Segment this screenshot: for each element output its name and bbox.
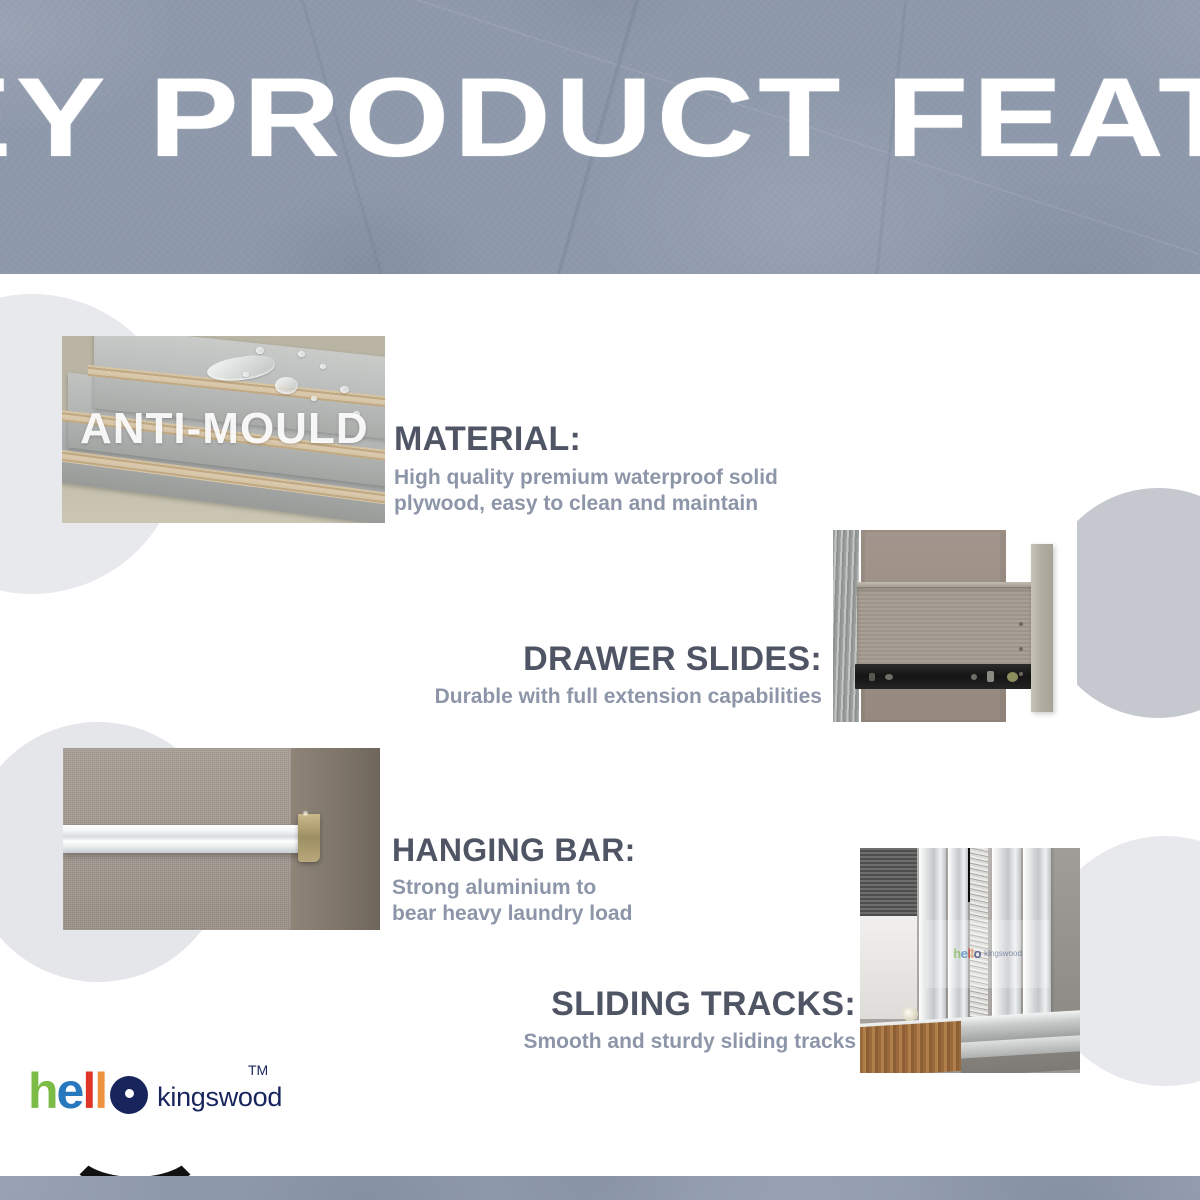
wardrobe-opening <box>1051 848 1080 1028</box>
feature-hanging-bar-body: Strong aluminium to bear heavy laundry l… <box>392 875 636 926</box>
drawer-slides-photo <box>823 512 1077 732</box>
header-band: KEY PRODUCT FEATURES <box>0 0 1200 274</box>
door-roller-wheel <box>902 1007 918 1021</box>
feature-drawer-slides-text: DRAWER SLIDES: Durable with full extensi… <box>180 640 822 710</box>
page-title: KEY PRODUCT FEATURES <box>0 62 1200 174</box>
feature-material-text: MATERIAL: High quality premium waterproo… <box>394 420 778 516</box>
rail-fitting <box>987 671 994 682</box>
wooden-kick-panel <box>860 1020 961 1073</box>
aluminium-hanging-bar <box>63 825 304 853</box>
drawer-pin-hole <box>1019 672 1023 676</box>
feature-sliding-tracks-text: SLIDING TRACKS: Smooth and sturdy slidin… <box>180 985 856 1055</box>
wardrobe-side-stile <box>833 530 859 722</box>
hanging-bar-bracket <box>298 814 320 862</box>
drawer-slide-rail <box>855 664 1039 689</box>
water-droplet-small <box>311 396 317 401</box>
water-droplet-small <box>243 372 249 377</box>
footer-band <box>0 1176 1200 1200</box>
drawer-front-panel <box>1031 544 1053 712</box>
rail-screw <box>1007 672 1018 682</box>
anti-mould-overlay-label: ANTI-MOULD <box>80 404 369 454</box>
logo-letter-l-first: l <box>82 1066 94 1116</box>
feature-hanging-bar-heading: HANGING BAR: <box>392 832 636 869</box>
footer-texture <box>0 1176 1200 1200</box>
feature-sliding-tracks-body: Smooth and sturdy sliding tracks <box>180 1029 856 1055</box>
rail-fitting <box>971 674 977 680</box>
rail-fitting <box>869 673 875 681</box>
sliding-tracks-photo: hello kingswood <box>860 848 1080 1073</box>
logo-letter-e: e <box>57 1066 83 1116</box>
wall-grille <box>860 848 917 916</box>
feature-material-heading: MATERIAL: <box>394 420 778 459</box>
feature-material-body: High quality premium waterproof solid pl… <box>394 465 778 516</box>
feature-material-body-line-2: plywood, easy to clean and maintain <box>394 491 778 517</box>
watermark-hello-text: hello <box>953 946 981 961</box>
rail-fitting <box>885 674 893 680</box>
feature-hanging-bar-text: HANGING BAR: Strong aluminium to bear he… <box>392 832 636 926</box>
watermark-brand-text: kingswood <box>984 949 1022 958</box>
bracket-highlight <box>302 810 309 817</box>
logo-brand-name: kingswood <box>157 1082 282 1113</box>
feature-hanging-bar-body-line-2: bear heavy laundry load <box>392 901 636 927</box>
feature-drawer-slides-body: Durable with full extension capabilities <box>180 684 822 710</box>
feature-sliding-tracks-heading: SLIDING TRACKS: <box>180 985 856 1024</box>
water-droplet-small <box>256 347 264 354</box>
feature-drawer-slides-heading: DRAWER SLIDES: <box>180 640 822 679</box>
feature-hanging-bar-body-line-1: Strong aluminium to <box>392 875 636 901</box>
hanging-bar-photo <box>63 748 380 930</box>
logo-letter-l-second: l <box>94 1066 106 1116</box>
infographic-page: KEY PRODUCT FEATURES ANTI-MOULD MATERIAL… <box>0 0 1200 1200</box>
drawer-slides-photo-inner <box>823 512 1077 732</box>
logo-trademark-symbol: TM <box>248 1062 268 1078</box>
drawer-pin-hole <box>1019 647 1023 651</box>
drawer-pin-hole <box>1019 622 1023 626</box>
feature-material-body-line-1: High quality premium waterproof solid <box>394 465 778 491</box>
water-droplet-small <box>298 351 305 357</box>
photo-watermark: hello kingswood <box>926 920 1049 988</box>
white-wall-section <box>860 916 917 1020</box>
logo-letter-h: h <box>28 1066 57 1116</box>
